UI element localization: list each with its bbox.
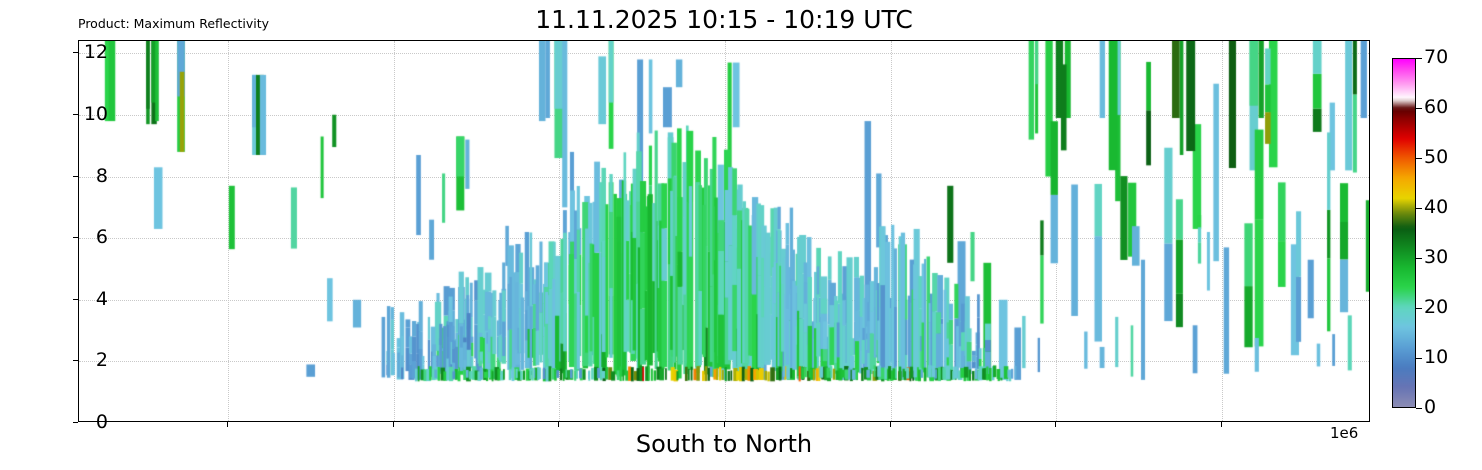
data-layer: [79, 41, 1369, 421]
y-tick-label: 12: [48, 43, 108, 62]
colorbar-tick-mark: [1416, 408, 1422, 409]
colorbar-tick-label: 20: [1424, 298, 1448, 317]
colorbar-tick-mark: [1416, 58, 1422, 59]
x-tick-mark: [1221, 422, 1222, 427]
colorbar-tick-mark: [1416, 308, 1422, 309]
x-axis-label: South to North: [78, 430, 1370, 458]
y-tick-label: 0: [48, 413, 108, 432]
radar-curtain-figure: Product: Maximum Reflectivity 11.11.2025…: [0, 0, 1482, 470]
y-tick-label: 6: [48, 228, 108, 247]
x-tick-mark: [227, 422, 228, 427]
colorbar-tick-label: 40: [1424, 198, 1448, 217]
x-tick-mark: [724, 422, 725, 427]
y-tick-label: 2: [48, 351, 108, 370]
colorbar-tick-label: 30: [1424, 248, 1448, 267]
colorbar: [1392, 58, 1416, 408]
x-tick-mark: [393, 422, 394, 427]
colorbar-tick-mark: [1416, 358, 1422, 359]
x-tick-mark: [1055, 422, 1056, 427]
colorbar-tick-label: 50: [1424, 148, 1448, 167]
colorbar-tick-mark: [1416, 158, 1422, 159]
x-tick-mark: [558, 422, 559, 427]
colorbar-tick-label: 70: [1424, 48, 1448, 67]
x-axis-offset-label: 1e6: [1330, 424, 1358, 442]
colorbar-tick-mark: [1416, 258, 1422, 259]
colorbar-tick-label: 0: [1424, 398, 1436, 417]
colorbar-tick-label: 10: [1424, 348, 1448, 367]
y-tick-label: 8: [48, 167, 108, 186]
colorbar-tick-label: 60: [1424, 98, 1448, 117]
plot-area: [78, 40, 1370, 422]
y-tick-label: 4: [48, 290, 108, 309]
figure-title: 11.11.2025 10:15 - 10:19 UTC: [78, 6, 1370, 34]
y-tick-label: 10: [48, 105, 108, 124]
colorbar-tick-mark: [1416, 208, 1422, 209]
colorbar-gradient: [1393, 59, 1415, 407]
colorbar-tick-mark: [1416, 108, 1422, 109]
x-tick-mark: [890, 422, 891, 427]
reflectivity-curtain: [79, 41, 1369, 421]
